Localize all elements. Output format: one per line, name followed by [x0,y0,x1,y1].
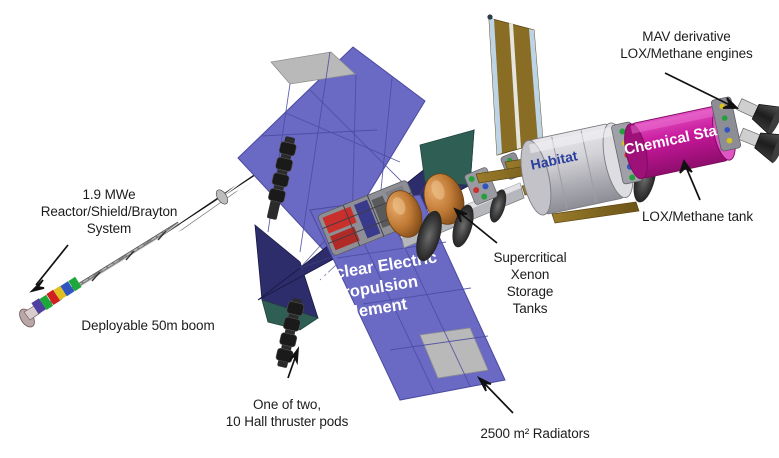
arrow-reactor [32,245,68,291]
callout-lox-tank: LOX/Methane tank [620,208,775,225]
callout-mav-engines: MAV derivative LOX/Methane engines [594,28,779,62]
engine-nozzle-1 [733,90,779,136]
callout-xenon-tanks: Supercritical Xenon Storage Tanks [455,249,605,317]
arrow-radiators [479,378,513,413]
radiator-wing-dark-lower-left [255,225,318,330]
callout-radiators: 2500 m² Radiators [440,425,630,442]
callout-boom: Deployable 50m boom [48,317,248,334]
figure-canvas: Nuclear Electric Propulsion Element [0,0,779,458]
solar-array [487,14,543,155]
callout-reactor: 1.9 MWe Reactor/Shield/Brayton System [14,186,204,237]
arrow-mav-engines [665,73,737,108]
callout-hall-thrusters: One of two, 10 Hall thruster pods [192,396,382,430]
